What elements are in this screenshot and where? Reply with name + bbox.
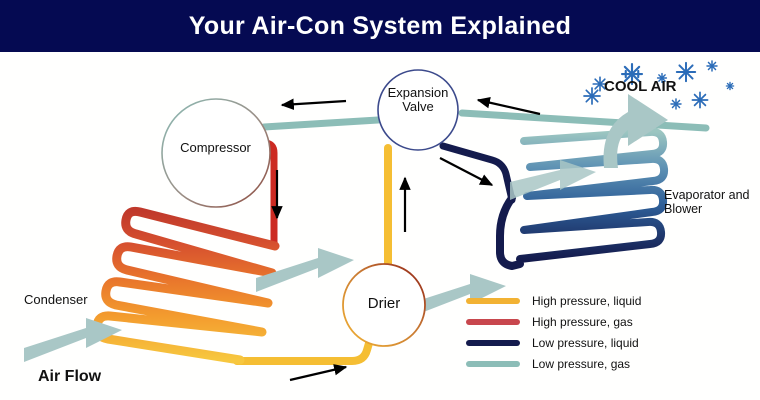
- condenser-coil-path: [97, 211, 275, 360]
- legend-label-high-pressure-liquid: High pressure, liquid: [532, 294, 641, 308]
- pipe-evaporator-to-valve: [462, 113, 706, 128]
- flow-arrow-to-drier: [290, 367, 346, 380]
- legend-item: High pressure, gas: [466, 311, 696, 332]
- air-flow-label: Air Flow: [38, 368, 101, 386]
- snowflake-icon: [677, 63, 695, 81]
- cool-air-label: COOL AIR: [604, 78, 677, 95]
- legend-item: Low pressure, gas: [466, 353, 696, 374]
- condenser-label: Condenser: [24, 292, 88, 307]
- condenser-coil: [97, 211, 275, 360]
- compressor-label: Compressor: [163, 141, 268, 155]
- flow-arrow-to-evaporator: [440, 158, 492, 185]
- infographic-canvas: Your Air-Con System Explained: [0, 0, 760, 400]
- legend-label-high-pressure-gas: High pressure, gas: [532, 315, 633, 329]
- pipe-condenser-to-drier: [237, 333, 372, 361]
- evaporator-coil: [500, 132, 664, 266]
- legend-item: High pressure, liquid: [466, 290, 696, 311]
- legend-swatch-high-pressure-gas: [466, 319, 520, 325]
- expansion-valve-label: Expansion Valve: [379, 86, 457, 114]
- expansion-valve-label-line2: Valve: [379, 100, 457, 114]
- legend: High pressure, liquid High pressure, gas…: [466, 290, 696, 374]
- snowflake-icon: [692, 92, 707, 107]
- evaporator-coil-path: [520, 132, 664, 259]
- snowflake-icon: [726, 82, 733, 89]
- legend-swatch-low-pressure-liquid: [466, 340, 520, 346]
- legend-swatch-high-pressure-liquid: [466, 298, 520, 304]
- evaporator-label: Evaporator and Blower: [664, 188, 756, 216]
- pipe-valve-to-compressor: [264, 120, 378, 127]
- expansion-valve-label-line1: Expansion: [379, 86, 457, 100]
- legend-label-low-pressure-liquid: Low pressure, liquid: [532, 336, 639, 350]
- legend-swatch-low-pressure-gas: [466, 361, 520, 367]
- drier-label: Drier: [344, 297, 424, 311]
- flow-arrow-to-compressor: [282, 101, 346, 105]
- pipe-low-pressure-liquid: [443, 146, 512, 200]
- snowflake-icon: [584, 88, 600, 104]
- legend-item: Low pressure, liquid: [466, 332, 696, 353]
- snowflake-icon: [707, 61, 717, 71]
- pipe-valve-to-evaporator: [443, 146, 512, 200]
- legend-label-low-pressure-gas: Low pressure, gas: [532, 357, 630, 371]
- evaporator-inlet-bend: [500, 198, 520, 266]
- snowflake-icon: [671, 99, 681, 109]
